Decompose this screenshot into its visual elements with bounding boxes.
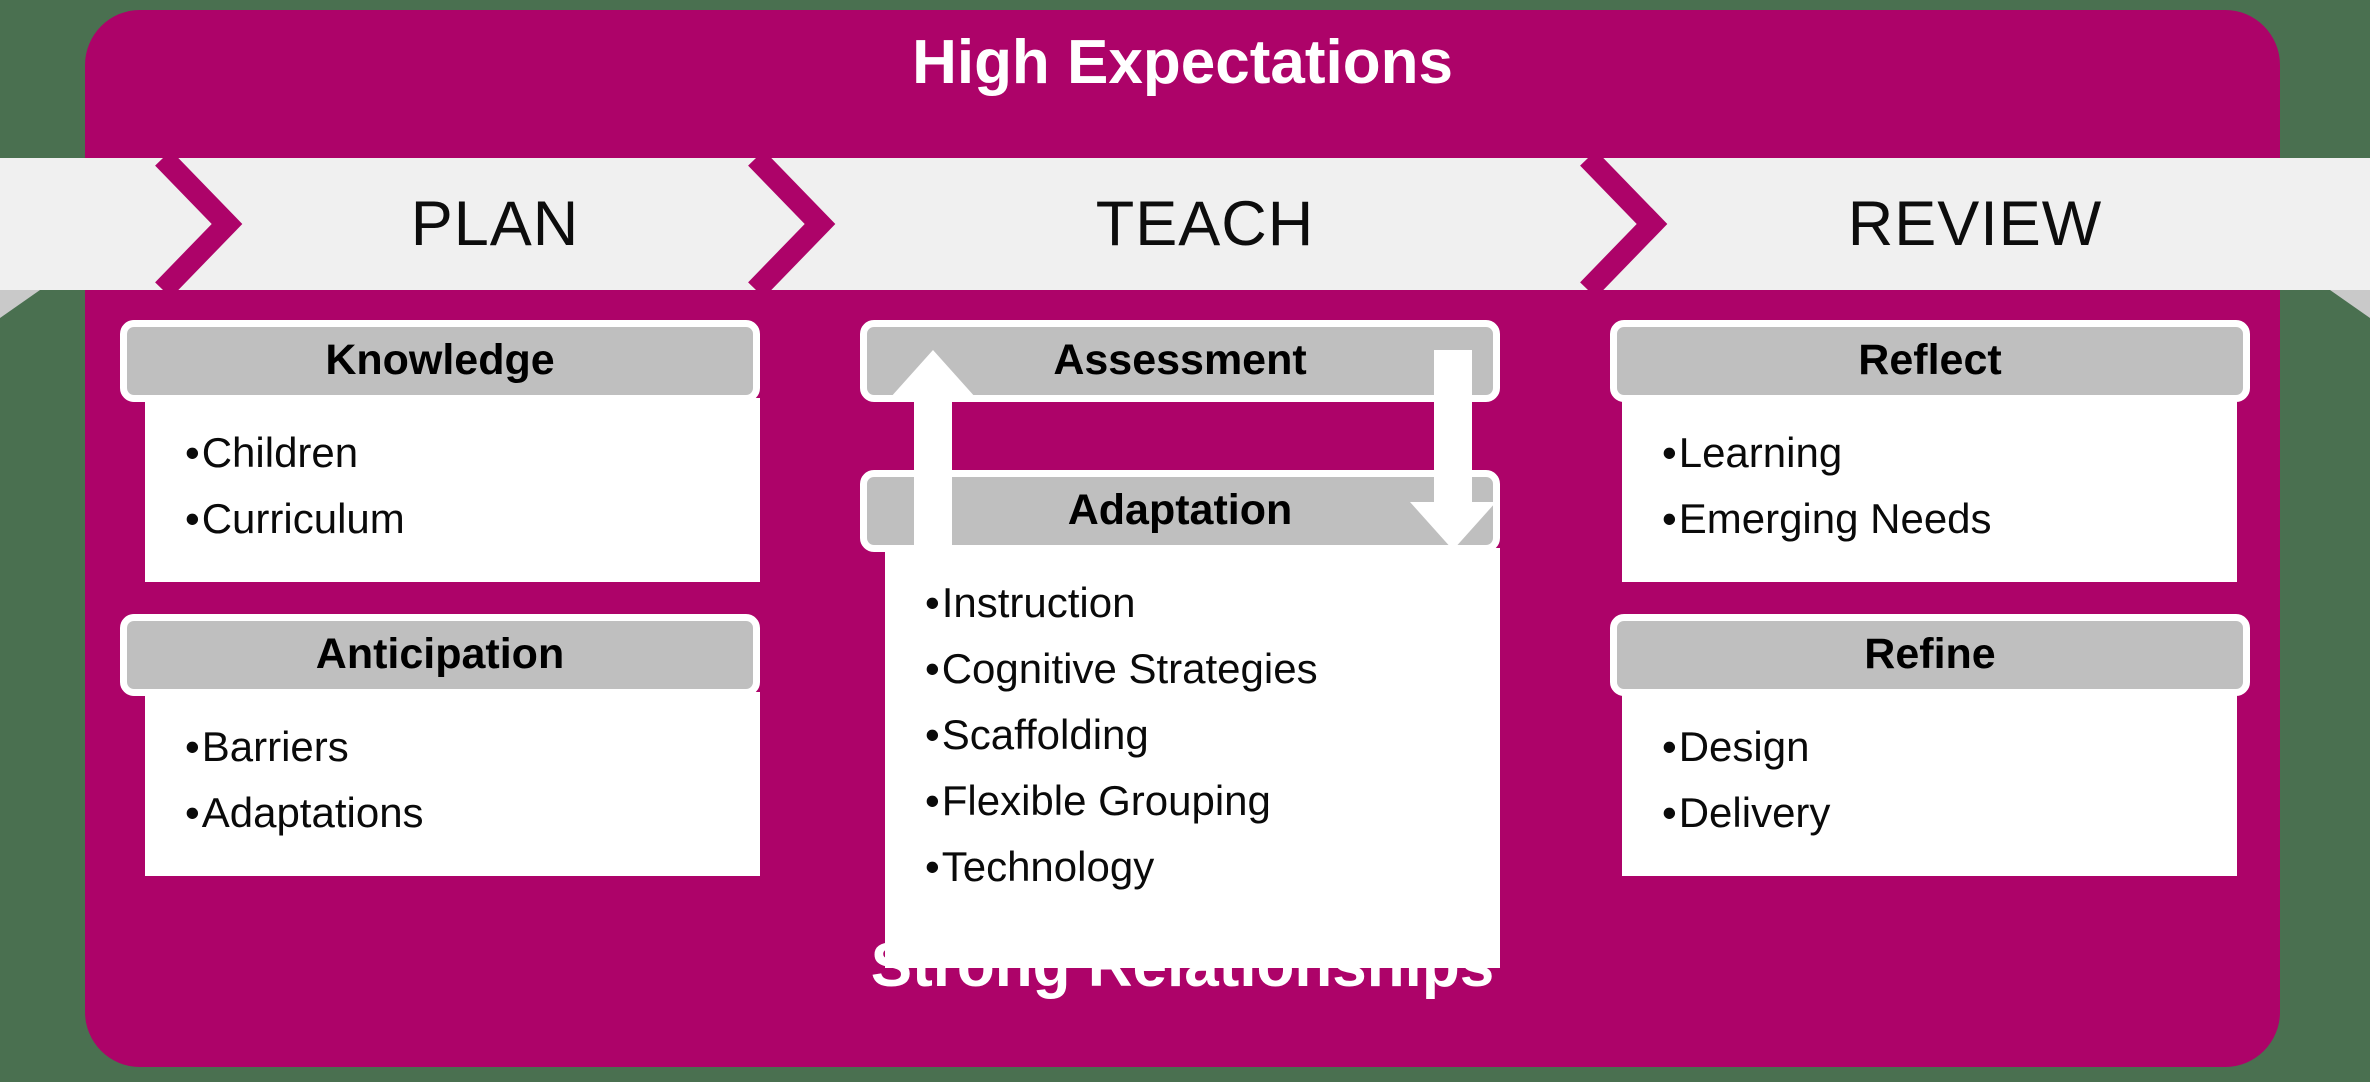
- card-refine[interactable]: Refine Design Delivery: [1610, 614, 2250, 876]
- bullet-list-anticipation: Barriers Adaptations: [185, 714, 760, 846]
- card-title-reflect: Reflect: [1610, 320, 2250, 402]
- bullet-list-refine: Design Delivery: [1662, 714, 2237, 846]
- list-item: Cognitive Strategies: [925, 636, 1500, 702]
- card-knowledge[interactable]: Knowledge Children Curriculum: [120, 320, 760, 582]
- list-item: Emerging Needs: [1662, 486, 2237, 552]
- column-plan: Knowledge Children Curriculum Anticipati…: [120, 320, 760, 876]
- chevron-divider-2: [748, 158, 838, 290]
- card-reflect[interactable]: Reflect Learning Emerging Needs: [1610, 320, 2250, 582]
- stage-label-teach[interactable]: TEACH: [845, 158, 1565, 290]
- card-body-reflect: Learning Emerging Needs: [1622, 398, 2237, 582]
- banner-fold-right: [2330, 290, 2370, 318]
- bullet-list-reflect: Learning Emerging Needs: [1662, 420, 2237, 552]
- card-title-anticipation: Anticipation: [120, 614, 760, 696]
- list-item: Technology: [925, 834, 1500, 900]
- list-item: Flexible Grouping: [925, 768, 1500, 834]
- card-body-refine: Design Delivery: [1622, 692, 2237, 876]
- list-item: Curriculum: [185, 486, 760, 552]
- list-item: Learning: [1662, 420, 2237, 486]
- bullet-list-adaptation: Instruction Cognitive Strategies Scaffol…: [925, 570, 1500, 900]
- card-body-adaptation: Instruction Cognitive Strategies Scaffol…: [885, 548, 1500, 968]
- bullet-list-knowledge: Children Curriculum: [185, 420, 760, 552]
- arrow-down-icon: [1410, 350, 1496, 555]
- page-title-top: High Expectations: [85, 27, 2280, 99]
- stage-label-plan[interactable]: PLAN: [250, 158, 740, 290]
- list-item: Delivery: [1662, 780, 2237, 846]
- chevron-divider-3: [1580, 158, 1670, 290]
- card-title-knowledge: Knowledge: [120, 320, 760, 402]
- card-body-anticipation: Barriers Adaptations: [145, 692, 760, 876]
- banner-fold-left: [0, 290, 40, 318]
- column-review: Reflect Learning Emerging Needs Refine D…: [1610, 320, 2250, 876]
- arrow-up-icon: [890, 350, 976, 555]
- diagram-canvas: High Expectations PLAN TEACH REVIEW Know…: [0, 0, 2370, 1082]
- list-item: Instruction: [925, 570, 1500, 636]
- stage-label-review[interactable]: REVIEW: [1675, 158, 2275, 290]
- card-body-knowledge: Children Curriculum: [145, 398, 760, 582]
- list-item: Design: [1662, 714, 2237, 780]
- card-anticipation[interactable]: Anticipation Barriers Adaptations: [120, 614, 760, 876]
- card-title-refine: Refine: [1610, 614, 2250, 696]
- list-item: Scaffolding: [925, 702, 1500, 768]
- list-item: Adaptations: [185, 780, 760, 846]
- list-item: Barriers: [185, 714, 760, 780]
- chevron-divider-1: [155, 158, 245, 290]
- list-item: Children: [185, 420, 760, 486]
